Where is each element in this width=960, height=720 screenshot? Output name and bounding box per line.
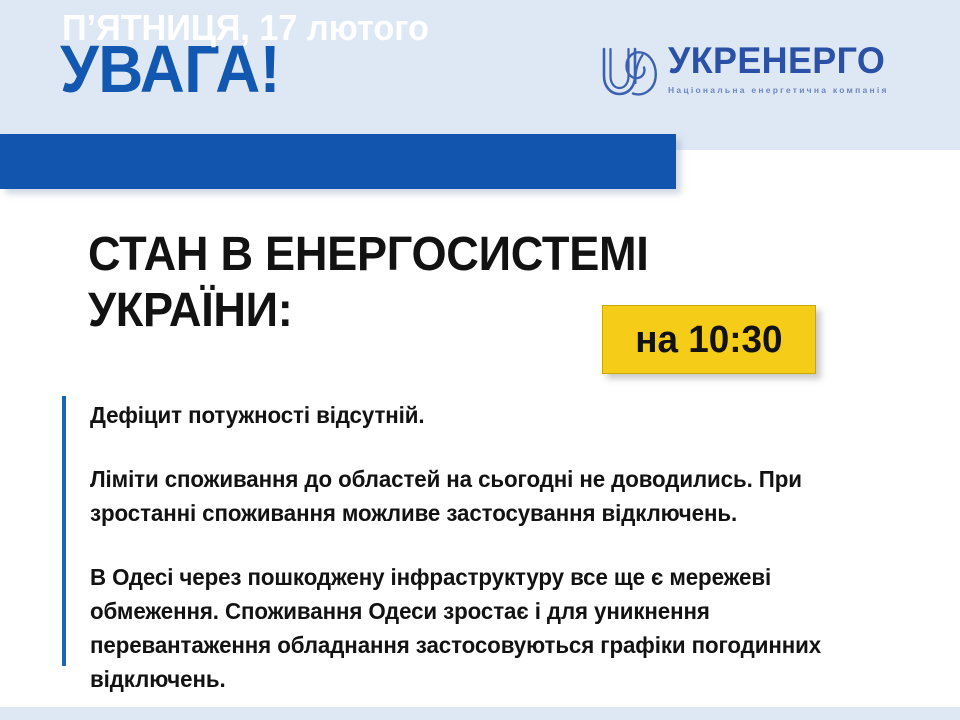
body-text-block: Дефіцит потужності відсутній. Ліміти спо… <box>90 398 860 696</box>
logo-text-block: УКРЕНЕРГО Національна енергетична компан… <box>668 42 892 95</box>
body-accent-rule <box>62 396 66 666</box>
body-paragraph: Дефіцит потужності відсутній. <box>90 398 837 432</box>
body-paragraph: Ліміти споживання до областей на сьогодн… <box>90 462 837 530</box>
status-badge-time: на 10:30 <box>635 321 782 359</box>
logo-wordmark: УКРЕНЕРГО <box>668 42 885 79</box>
logo-tagline: Національна енергетична компанія <box>668 85 892 95</box>
page-title-line-1: СТАН В ЕНЕРГОСИСТЕМІ <box>88 227 840 283</box>
date-band-label: П’ЯТНИЦЯ, 17 лютого <box>62 8 429 48</box>
announcement-poster: УВАГА! УКРЕНЕРГО Національна енергетична… <box>0 0 960 720</box>
date-band <box>0 134 676 189</box>
ukrenergo-u-leaf-mark <box>597 43 660 101</box>
footer-strip <box>0 707 960 720</box>
ukrenergo-logo: УКРЕНЕРГО Національна енергетична компан… <box>597 42 892 101</box>
body-paragraph: В Одесі через пошкоджену інфраструктуру … <box>90 560 837 696</box>
status-badge: на 10:30 <box>602 305 816 374</box>
